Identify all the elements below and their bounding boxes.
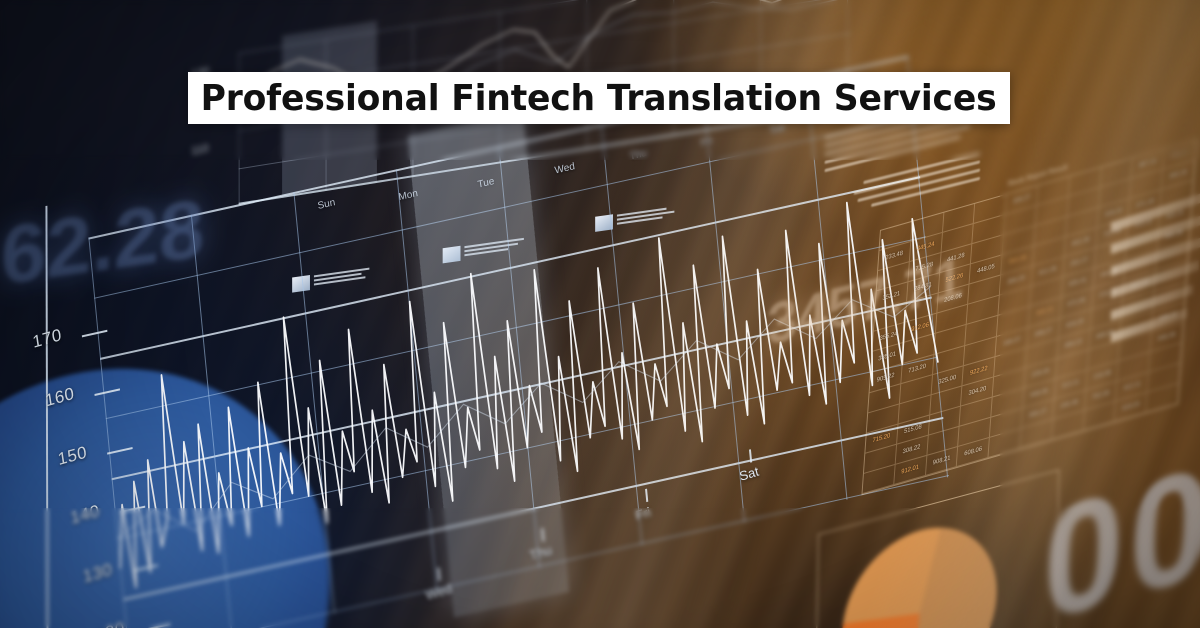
title-banner: Professional Fintech Translation Service… bbox=[188, 72, 1010, 124]
page-title: Professional Fintech Translation Service… bbox=[201, 78, 997, 119]
banner-image: 130 120 110 Sun Mon Tue Wed Thu Fri Sat bbox=[0, 0, 1200, 628]
